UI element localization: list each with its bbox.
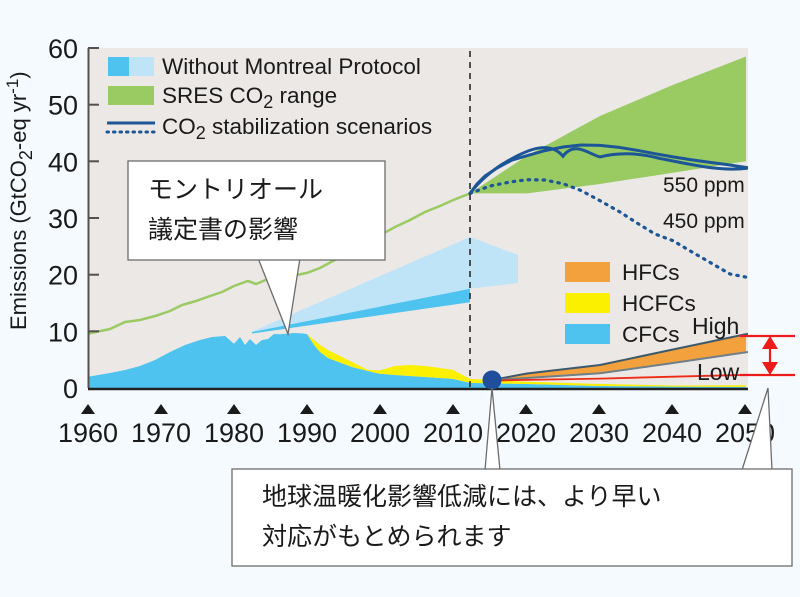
xtick-1990: 1990 — [277, 418, 337, 448]
legend-sres-pre: SRES CO — [162, 83, 263, 108]
montreal-callout-line-2: 議定書の影響 — [148, 215, 298, 244]
legend-sres-sub: 2 — [263, 92, 273, 112]
legend-sres-post: range — [273, 83, 337, 108]
xtick-2040: 2040 — [642, 418, 702, 448]
ylabel-sub: 2 — [16, 150, 36, 160]
legend-swatch-cfcs — [565, 324, 610, 344]
ylabel-post: ) — [6, 71, 31, 78]
ylabel-sup: -1 — [3, 79, 22, 94]
annotation-550-ppm: 550 ppm — [663, 174, 745, 197]
xtick-2030: 2030 — [569, 418, 629, 448]
y-axis-title: Emissions (GtCO2-eq yr-1) — [3, 71, 36, 330]
x-axis-tick-labels: 1960 1970 1980 1990 2000 2010 2020 2030 … — [58, 418, 775, 448]
xtick-2000: 2000 — [350, 418, 410, 448]
legend-label-hfcs: HFCs — [622, 260, 680, 285]
ytick-20: 20 — [48, 261, 78, 291]
x-axis-tick-markers — [81, 404, 752, 414]
action-needed-callout: 地球温暖化影響低減には、より早い 対応がもとめられます — [232, 388, 792, 566]
annotation-low: Low — [697, 359, 740, 385]
legend-label-hcfcs: HCFCs — [622, 291, 696, 316]
annotation-450-ppm: 450 ppm — [663, 210, 745, 233]
ytick-0: 0 — [63, 374, 78, 404]
ylabel-mid: -eq yr — [6, 94, 31, 150]
legend-stab-post: stabilization scenarios — [206, 114, 432, 139]
legend-swatch-without-montreal-light — [129, 57, 154, 76]
ytick-60: 60 — [48, 34, 78, 64]
xtick-2020: 2020 — [496, 418, 556, 448]
chart-figure: 60 50 40 30 20 10 0 Emissions (GtCO2-eq … — [0, 0, 800, 597]
ytick-40: 40 — [48, 147, 78, 177]
legend-stab-pre: CO — [162, 114, 196, 139]
xtick-1960: 1960 — [58, 418, 118, 448]
ytick-50: 50 — [48, 91, 78, 121]
legend-species: HFCs HCFCs CFCs — [565, 260, 696, 347]
legend-swatch-hfcs — [565, 262, 610, 282]
legend-label-cfcs: CFCs — [622, 322, 680, 347]
action-callout-line-1: 地球温暖化影響低減には、より早い — [262, 482, 662, 511]
legend-stab-sub: 2 — [196, 123, 206, 143]
legend-label-without-montreal: Without Montreal Protocol — [162, 54, 421, 79]
legend-swatch-hcfcs — [565, 293, 610, 313]
annotation-high: High — [692, 313, 739, 339]
svg-text:Emissions (GtCO2-eq yr-1): Emissions (GtCO2-eq yr-1) — [3, 71, 36, 330]
chart-svg: 60 50 40 30 20 10 0 Emissions (GtCO2-eq … — [0, 0, 800, 597]
ytick-30: 30 — [48, 204, 78, 234]
hfc-range-arrow-head-down — [762, 362, 778, 375]
highlight-point-marker — [483, 371, 502, 390]
legend-label-sres: SRES CO2 range — [162, 83, 337, 112]
ylabel-pre: Emissions (GtCO — [6, 160, 31, 330]
xtick-1980: 1980 — [204, 418, 264, 448]
xtick-2010: 2010 — [423, 418, 483, 448]
ytick-10: 10 — [48, 317, 78, 347]
hfc-range-arrow-head-up — [762, 336, 778, 349]
legend-swatch-sres — [108, 86, 154, 105]
xtick-1970: 1970 — [131, 418, 191, 448]
y-axis-tick-labels: 60 50 40 30 20 10 0 — [48, 34, 78, 404]
action-callout-line-2: 対応がもとめられます — [262, 522, 512, 551]
montreal-callout-line-1: モントリオール — [148, 175, 323, 204]
legend-swatch-without-montreal-dark — [108, 57, 129, 76]
